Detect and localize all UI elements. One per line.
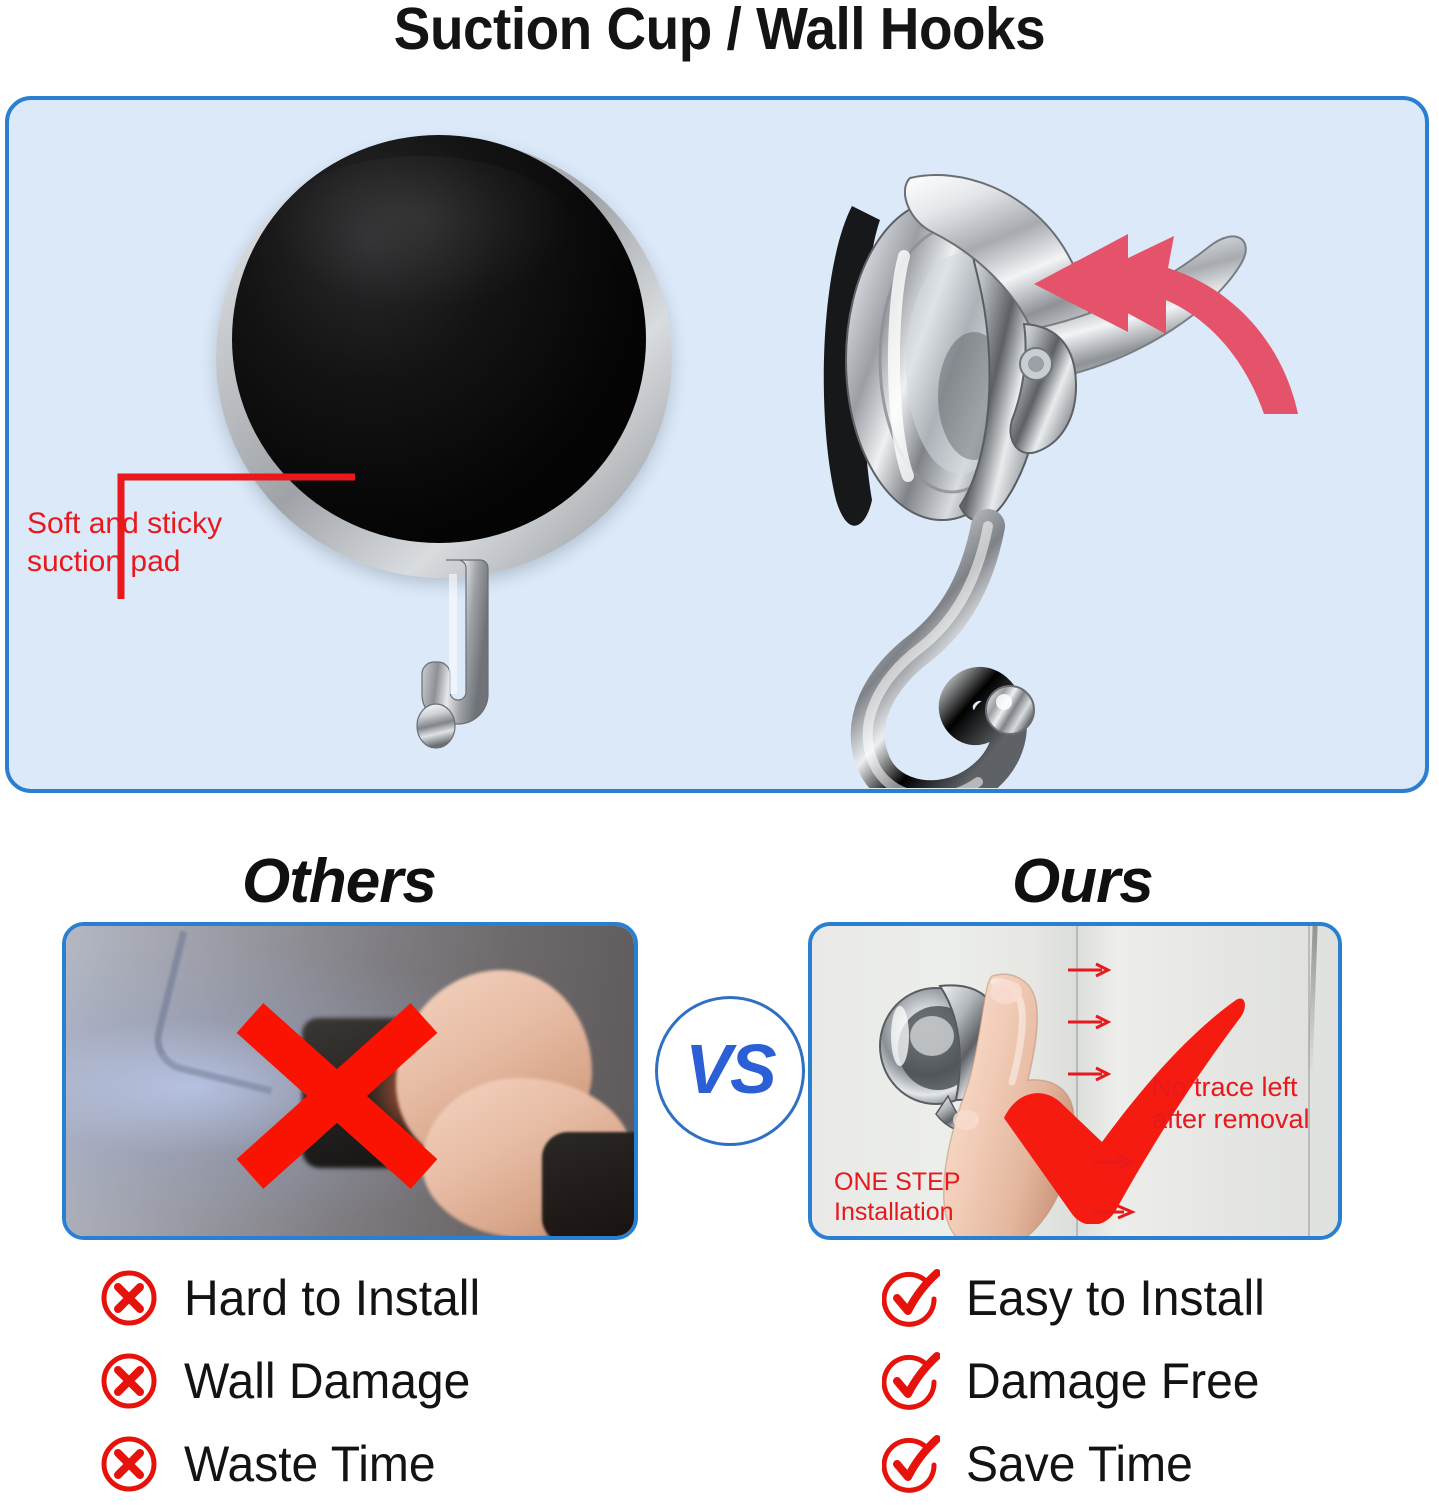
page-title: Suction Cup / Wall Hooks	[50, 0, 1388, 62]
ours-photo: No trace left after removal ONE STEP Ins…	[808, 922, 1342, 1240]
list-item: Hard to Install	[100, 1256, 492, 1339]
list-item: Easy to Install	[882, 1256, 1277, 1339]
list-item-label: Hard to Install	[184, 1269, 480, 1327]
others-benefit-list: Hard to Install Wall Damage Waste Time	[100, 1256, 492, 1505]
circle-x-icon	[100, 1269, 158, 1327]
circle-check-icon	[882, 1269, 940, 1327]
circle-x-icon	[100, 1435, 158, 1493]
suction-hook-side-view	[792, 128, 1352, 788]
small-right-arrow-icon	[1094, 1154, 1140, 1170]
suction-hook-front-view	[210, 120, 680, 793]
list-item-label: Wall Damage	[184, 1352, 470, 1410]
hero-stage: Soft and sticky suction pad	[9, 100, 1425, 789]
list-item: Wall Damage	[100, 1339, 492, 1422]
circle-x-icon	[100, 1352, 158, 1410]
suction-pad-gloss-highlight	[272, 156, 572, 306]
list-item: Damage Free	[882, 1339, 1277, 1422]
ours-photo-scene: No trace left after removal ONE STEP Ins…	[812, 926, 1338, 1236]
soft-sticky-pad-callout: Soft and sticky suction pad	[27, 505, 277, 581]
small-right-arrow-icon	[1068, 1066, 1114, 1082]
circle-check-icon	[882, 1352, 940, 1410]
list-item-label: Damage Free	[966, 1352, 1259, 1410]
circle-check-icon	[882, 1435, 940, 1493]
others-photo	[62, 922, 638, 1240]
small-chrome-hook-icon	[416, 558, 512, 768]
others-photo-scene	[66, 926, 634, 1236]
vs-badge: VS	[655, 996, 805, 1146]
vs-label: VS	[685, 1034, 774, 1104]
dark-sleeve	[542, 1132, 638, 1240]
small-right-arrow-icon	[1068, 962, 1114, 978]
one-step-label: ONE STEP Installation	[834, 1168, 960, 1227]
small-right-arrow-icon	[1094, 1204, 1140, 1220]
no-trace-label: No trace left after removal	[1152, 1072, 1310, 1136]
ours-heading: Ours	[1012, 846, 1153, 917]
list-item-label: Easy to Install	[966, 1269, 1265, 1327]
list-item: Waste Time	[100, 1422, 492, 1505]
others-heading: Others	[242, 846, 436, 917]
small-right-arrow-icon	[1068, 1014, 1114, 1030]
list-item-label: Save Time	[966, 1435, 1193, 1493]
red-x-icon	[228, 1002, 446, 1190]
curved-arrow-icon	[1016, 228, 1316, 418]
list-item-label: Waste Time	[184, 1435, 436, 1493]
product-hero-panel: Soft and sticky suction pad	[5, 96, 1429, 793]
list-item: Save Time	[882, 1422, 1277, 1505]
ours-benefit-list: Easy to Install Damage Free Save Time	[882, 1256, 1277, 1505]
